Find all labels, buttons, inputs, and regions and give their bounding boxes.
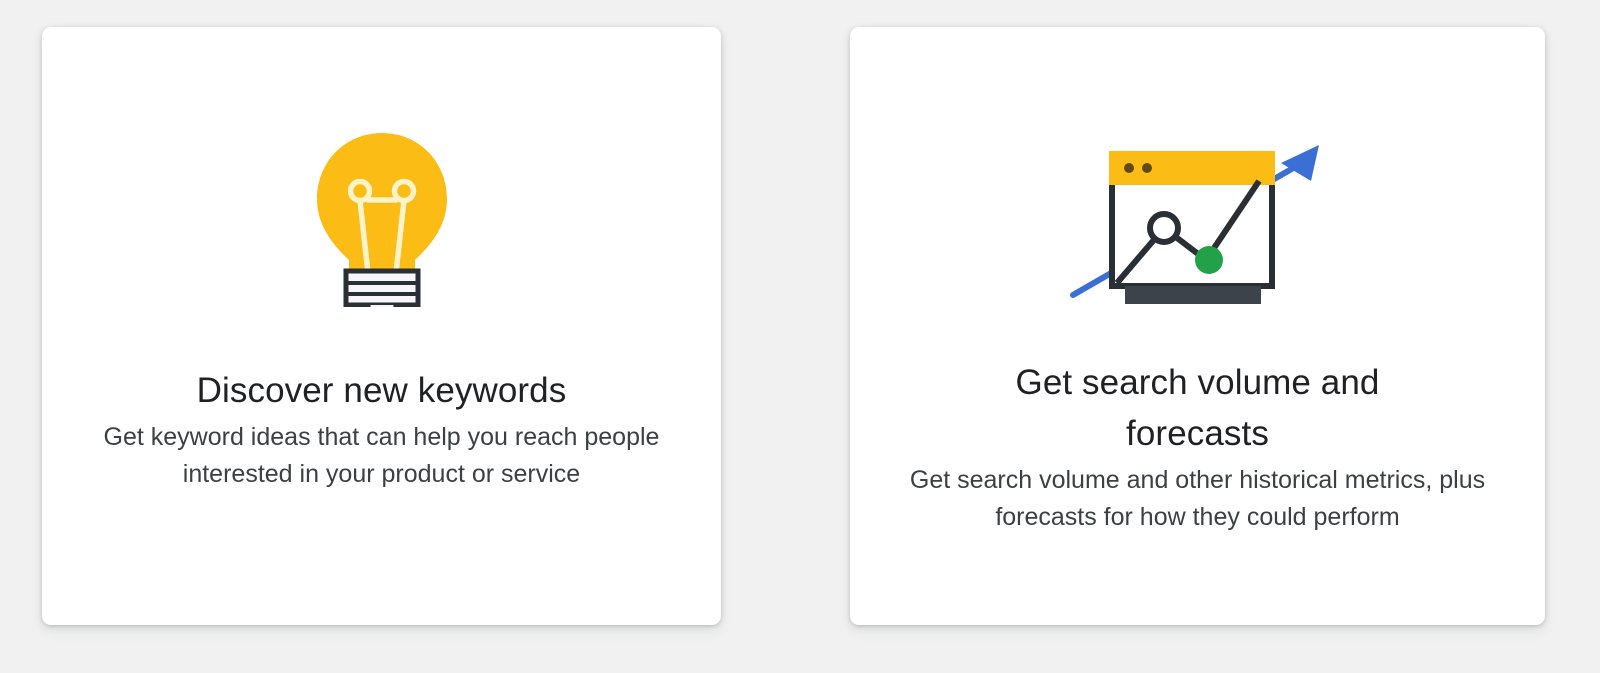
- card-get-search-volume-and-forecasts[interactable]: Get search volume and forecasts Get sear…: [850, 27, 1545, 625]
- feature-cards-row: Discover new keywords Get keyword ideas …: [0, 0, 1600, 673]
- card-text-block: Get search volume and forecasts Get sear…: [850, 357, 1545, 536]
- card-text-block: Discover new keywords Get keyword ideas …: [42, 365, 721, 493]
- lightbulb-icon: [302, 127, 462, 307]
- card-title: Get search volume and forecasts: [860, 357, 1535, 459]
- card-discover-new-keywords[interactable]: Discover new keywords Get keyword ideas …: [42, 27, 721, 625]
- card-description: Get search volume and other historical m…: [860, 462, 1535, 536]
- search-volume-chart-icon: [1063, 125, 1333, 305]
- card-title: Discover new keywords: [52, 365, 711, 416]
- card-description: Get keyword ideas that can help you reac…: [52, 419, 711, 493]
